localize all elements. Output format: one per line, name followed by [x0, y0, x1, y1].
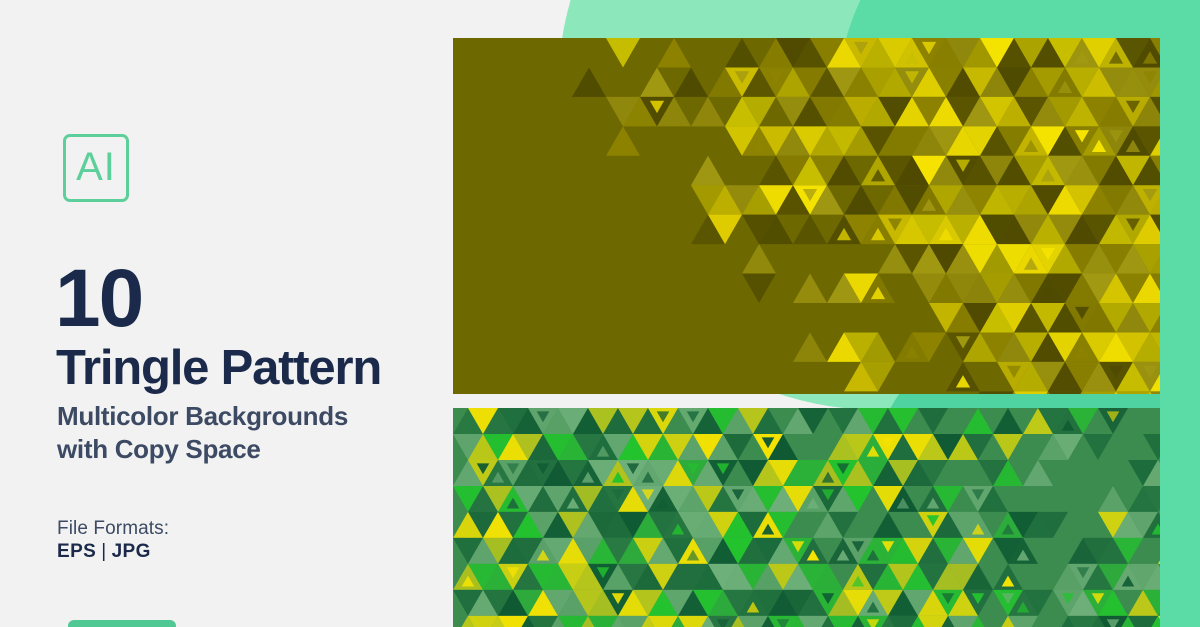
- cta-button[interactable]: [68, 620, 176, 627]
- format-separator: |: [96, 541, 111, 562]
- subtitle-line-1: Multicolor Backgrounds: [57, 400, 348, 433]
- mint-right-panel: [1160, 0, 1200, 627]
- adobe-illustrator-badge-icon: AI: [63, 134, 129, 202]
- green-triangle-pattern-preview[interactable]: [453, 408, 1160, 627]
- olive-triangle-pattern-preview[interactable]: [453, 38, 1160, 394]
- page-title: Tringle Pattern: [56, 344, 381, 393]
- format-jpg: JPG: [112, 541, 151, 562]
- badge-label: AI: [76, 147, 116, 187]
- file-formats-value: EPS|JPG: [57, 541, 151, 563]
- subtitle-line-2: with Copy Space: [57, 433, 348, 466]
- format-eps: EPS: [57, 541, 96, 562]
- poster-canvas: AI 10 Tringle Pattern Multicolor Backgro…: [0, 0, 1200, 627]
- item-count: 10: [55, 258, 142, 340]
- triangle-mosaic-olive: [453, 38, 1160, 394]
- file-formats-label: File Formats:: [57, 518, 169, 540]
- page-subtitle: Multicolor Backgrounds with Copy Space: [57, 400, 348, 467]
- triangle-mosaic-green: [453, 408, 1160, 627]
- info-panel: AI 10 Tringle Pattern Multicolor Backgro…: [0, 0, 453, 627]
